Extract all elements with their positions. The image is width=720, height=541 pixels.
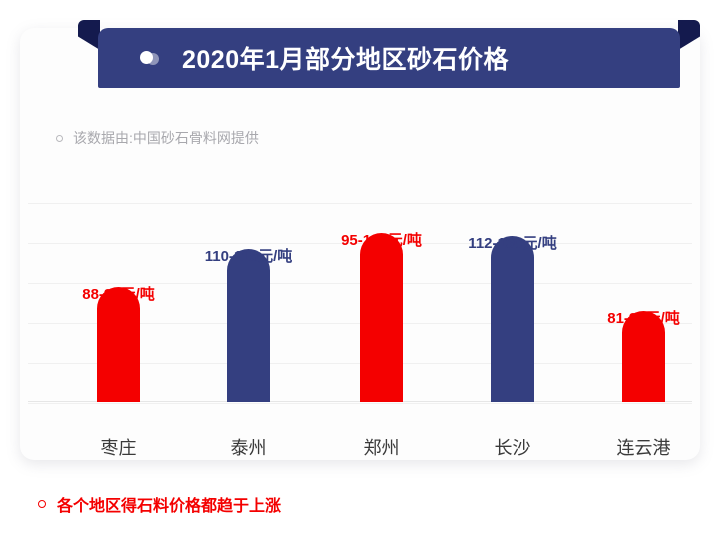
- ribbon-fold-right-icon: [678, 20, 700, 50]
- category-label-枣庄: 枣庄: [101, 434, 137, 460]
- title-banner: 2020年1月部分地区砂石价格: [78, 20, 700, 88]
- category-label-郑州: 郑州: [364, 434, 400, 460]
- bar-泰州[interactable]: [227, 249, 270, 402]
- ribbon-fold-left-icon: [78, 20, 100, 50]
- bar-chart-plot: 88-99元/吨110-115元/吨95-130元/吨112-130元/吨81-…: [20, 170, 700, 402]
- bar-长沙[interactable]: [491, 236, 534, 402]
- bar-枣庄[interactable]: [97, 287, 140, 402]
- footer-note: 各个地区得石料价格都趋于上涨: [38, 492, 281, 516]
- bar-label-长沙: 112-130元/吨: [468, 232, 556, 253]
- bar-郑州[interactable]: [360, 233, 403, 402]
- category-label-连云港: 连云港: [617, 434, 671, 460]
- bar-label-连云港: 81-95元/吨: [607, 307, 680, 328]
- gridline: [28, 203, 692, 204]
- bar-label-郑州: 95-130元/吨: [341, 229, 422, 250]
- page-title: 2020年1月部分地区砂石价格: [182, 40, 509, 76]
- hollow-circle-icon: [56, 135, 63, 142]
- category-label-泰州: 泰州: [231, 434, 267, 460]
- hollow-circle-icon: [38, 500, 46, 508]
- gridline: [28, 403, 692, 404]
- footer-note-text: 各个地区得石料价格都趋于上涨: [57, 492, 281, 516]
- bar-label-泰州: 110-115元/吨: [205, 245, 293, 266]
- bar-label-枣庄: 88-99元/吨: [82, 283, 155, 304]
- subtitle: 该数据由:中国砂石骨料网提供: [56, 128, 259, 148]
- dot-translucent-icon: [147, 53, 159, 65]
- category-axis: 枣庄泰州郑州长沙连云港: [20, 434, 700, 468]
- subtitle-text: 该数据由:中国砂石骨料网提供: [73, 128, 259, 148]
- chart-card: 2020年1月部分地区砂石价格 该数据由:中国砂石骨料网提供 88-99元/吨1…: [20, 28, 700, 460]
- dot-pair-icon: [140, 48, 168, 68]
- title-banner-body: 2020年1月部分地区砂石价格: [98, 28, 680, 88]
- category-label-长沙: 长沙: [495, 434, 531, 460]
